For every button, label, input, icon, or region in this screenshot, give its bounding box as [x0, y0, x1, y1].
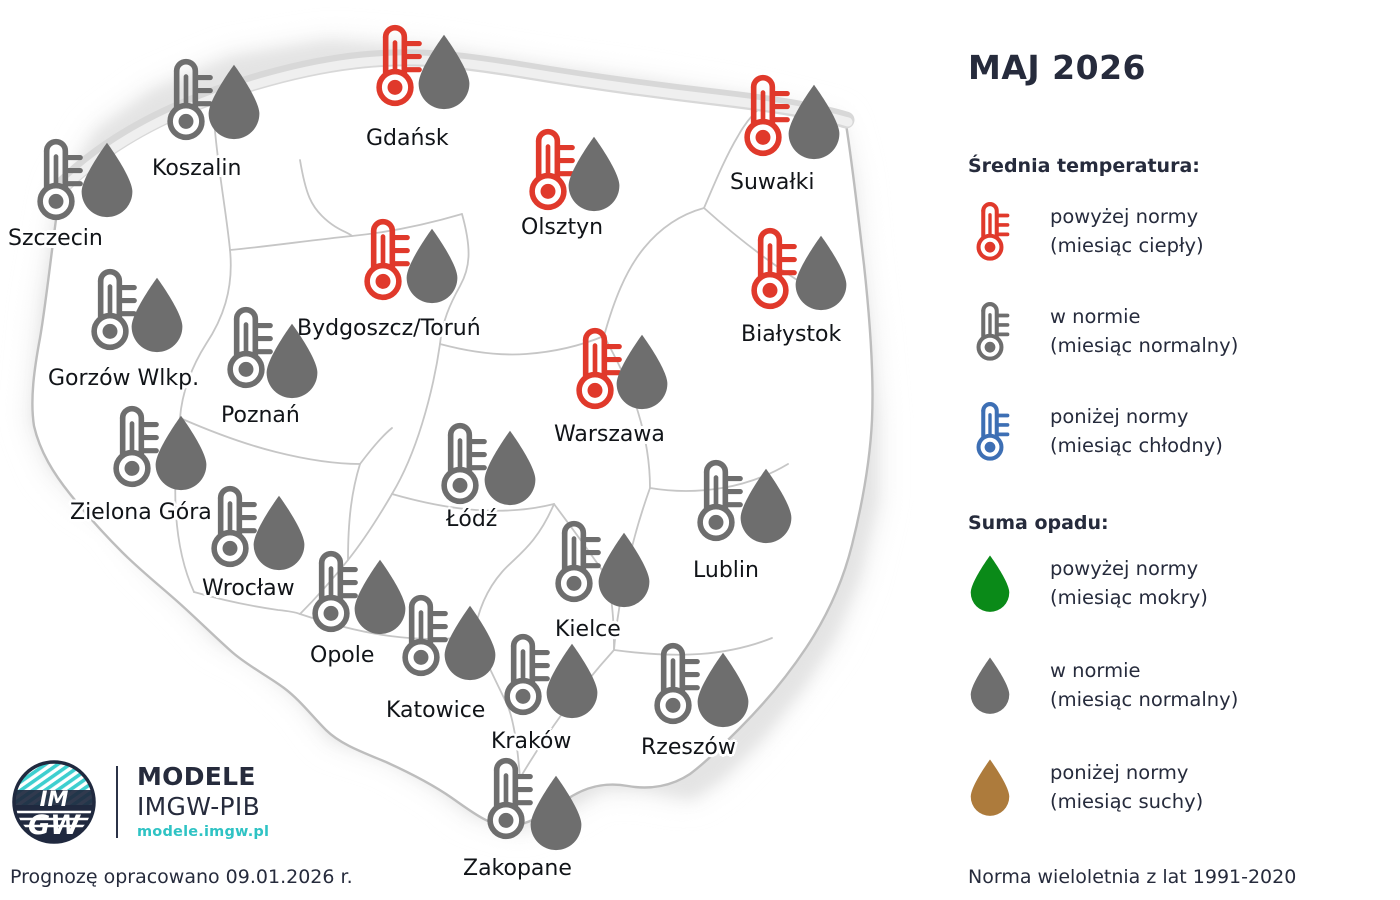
raindrop-icon — [968, 552, 1024, 614]
temperature-indicator — [432, 420, 488, 510]
footer-prepared-date: Prognozę opracowano 09.01.2026 r. — [10, 866, 353, 888]
thermometer-icon — [546, 518, 602, 604]
thermometer-icon — [742, 225, 798, 311]
temperature-indicator — [742, 225, 798, 315]
precipitation-indicator — [543, 641, 601, 723]
precipitation-indicator — [441, 603, 499, 685]
city-label: Opole — [310, 645, 374, 667]
raindrop-icon — [263, 321, 321, 399]
raindrop-icon — [968, 654, 1024, 716]
raindrop-icon — [152, 413, 210, 491]
city-label: Warszawa — [554, 424, 665, 446]
raindrop-icon — [481, 428, 539, 506]
temperature-indicator — [645, 640, 701, 730]
city-label: Olsztyn — [521, 217, 603, 239]
precipitation-indicator — [613, 332, 671, 414]
city-label: Łódź — [446, 509, 497, 531]
logo-line-modele: MODELE — [137, 762, 256, 791]
thermometer-icon — [688, 457, 744, 543]
precipitation-indicator — [128, 275, 186, 357]
temperature-indicator — [478, 755, 534, 845]
imgw-logo: IM GW MODELE IMGW-PIB modele.imgw.pl — [12, 756, 277, 848]
raindrop-icon — [968, 756, 1024, 818]
precipitation-indicator — [792, 233, 850, 315]
legend-item-text: poniżej normy(miesiąc suchy) — [1050, 758, 1203, 816]
raindrop-icon — [543, 641, 601, 719]
raindrop-icon — [968, 654, 1012, 716]
raindrop-icon — [792, 233, 850, 311]
precipitation-indicator — [527, 773, 585, 855]
precipitation-indicator — [263, 321, 321, 403]
raindrop-icon — [527, 773, 585, 851]
page-title: MAJ 2026 — [968, 48, 1146, 87]
city-label: Katowice — [386, 700, 485, 722]
raindrop-icon — [415, 32, 473, 110]
legend-item-line2: (miesiąc mokry) — [1050, 583, 1208, 612]
legend-item-line1: w normie — [1050, 656, 1238, 685]
raindrop-icon — [785, 82, 843, 160]
temperature-indicator — [28, 136, 84, 226]
city-label: Szczecin — [8, 228, 103, 250]
city-label: Kraków — [491, 731, 571, 753]
precipitation-indicator — [403, 226, 461, 308]
city-label: Gdańsk — [366, 128, 449, 150]
legend-heading-precipitation: Suma opadu: — [968, 512, 1109, 534]
raindrop-icon — [694, 650, 752, 728]
thermometer-icon — [968, 200, 1012, 262]
raindrop-icon — [250, 493, 308, 571]
thermometer-icon — [968, 400, 1012, 462]
legend-item-text: w normie(miesiąc normalny) — [1050, 302, 1238, 360]
raindrop-icon — [565, 134, 623, 212]
thermometer-icon — [28, 136, 84, 222]
legend-item-line2: (miesiąc chłodny) — [1050, 431, 1223, 460]
precipitation-indicator — [205, 62, 263, 144]
thermometer-icon — [968, 300, 1012, 362]
legend-item-text: powyżej normy(miesiąc mokry) — [1050, 554, 1208, 612]
city-label: Wrocław — [202, 578, 295, 600]
raindrop-icon — [205, 62, 263, 140]
logo-divider — [116, 766, 118, 838]
logo-line-imgw-pib: IMGW-PIB — [137, 792, 260, 821]
precipitation-indicator — [415, 32, 473, 114]
temperature-indicator — [735, 72, 791, 162]
city-label: Suwałki — [730, 172, 815, 194]
precipitation-indicator — [595, 530, 653, 612]
legend-item-line2: (miesiąc normalny) — [1050, 685, 1238, 714]
legend-item-line2: (miesiąc suchy) — [1050, 787, 1203, 816]
precipitation-indicator — [481, 428, 539, 510]
thermometer-icon — [432, 420, 488, 506]
legend-item-text: powyżej normy(miesiąc ciepły) — [1050, 202, 1204, 260]
city-label: Rzeszów — [641, 737, 736, 759]
svg-text:GW: GW — [28, 810, 81, 841]
thermometer-icon — [735, 72, 791, 158]
city-label: Poznań — [221, 405, 300, 427]
legend-item-text: poniżej normy(miesiąc chłodny) — [1050, 402, 1223, 460]
thermometer-icon — [478, 755, 534, 841]
raindrop-icon — [737, 466, 795, 544]
precipitation-indicator — [78, 140, 136, 222]
legend-item-line1: poniżej normy — [1050, 758, 1203, 787]
raindrop-icon — [968, 756, 1012, 818]
precipitation-indicator — [737, 466, 795, 548]
legend-heading-temperature: Średnia temperatura: — [968, 155, 1200, 177]
precipitation-indicator — [250, 493, 308, 575]
city-label: Bydgoszcz/Toruń — [297, 318, 481, 340]
precipitation-indicator — [785, 82, 843, 164]
legend-item-line1: w normie — [1050, 302, 1238, 331]
precipitation-indicator — [565, 134, 623, 216]
city-label: Koszalin — [152, 158, 241, 180]
raindrop-icon — [613, 332, 671, 410]
raindrop-icon — [595, 530, 653, 608]
legend-item-line1: poniżej normy — [1050, 402, 1223, 431]
raindrop-icon — [403, 226, 461, 304]
legend-item-line1: powyżej normy — [1050, 202, 1204, 231]
raindrop-icon — [441, 603, 499, 681]
thermometer-icon — [968, 300, 1024, 362]
thermometer-icon — [968, 400, 1024, 462]
raindrop-icon — [128, 275, 186, 353]
logo-line-url: modele.imgw.pl — [137, 824, 269, 840]
legend-item-line2: (miesiąc normalny) — [1050, 331, 1238, 360]
legend-panel: MAJ 2026 Średnia temperatura: powyżej no… — [930, 0, 1400, 900]
city-label: Lublin — [693, 560, 759, 582]
city-label: Kielce — [555, 619, 621, 641]
thermometer-icon — [645, 640, 701, 726]
thermometer-icon — [968, 200, 1024, 262]
temperature-indicator — [546, 518, 602, 608]
city-label: Zielona Góra — [70, 502, 212, 524]
city-label: Zakopane — [463, 858, 572, 880]
precipitation-indicator — [694, 650, 752, 732]
legend-item-line1: powyżej normy — [1050, 554, 1208, 583]
legend-item-line2: (miesiąc ciepły) — [1050, 231, 1204, 260]
footer-reference-period: Norma wieloletnia z lat 1991-2020 — [968, 866, 1296, 888]
temperature-indicator — [688, 457, 744, 547]
raindrop-icon — [968, 552, 1012, 614]
legend-item-text: w normie(miesiąc normalny) — [1050, 656, 1238, 714]
imgw-circle-icon: IM GW — [12, 760, 96, 844]
raindrop-icon — [78, 140, 136, 218]
city-label: Białystok — [741, 324, 841, 346]
city-label: Gorzów Wlkp. — [48, 368, 199, 390]
svg-text:IM: IM — [40, 787, 69, 811]
